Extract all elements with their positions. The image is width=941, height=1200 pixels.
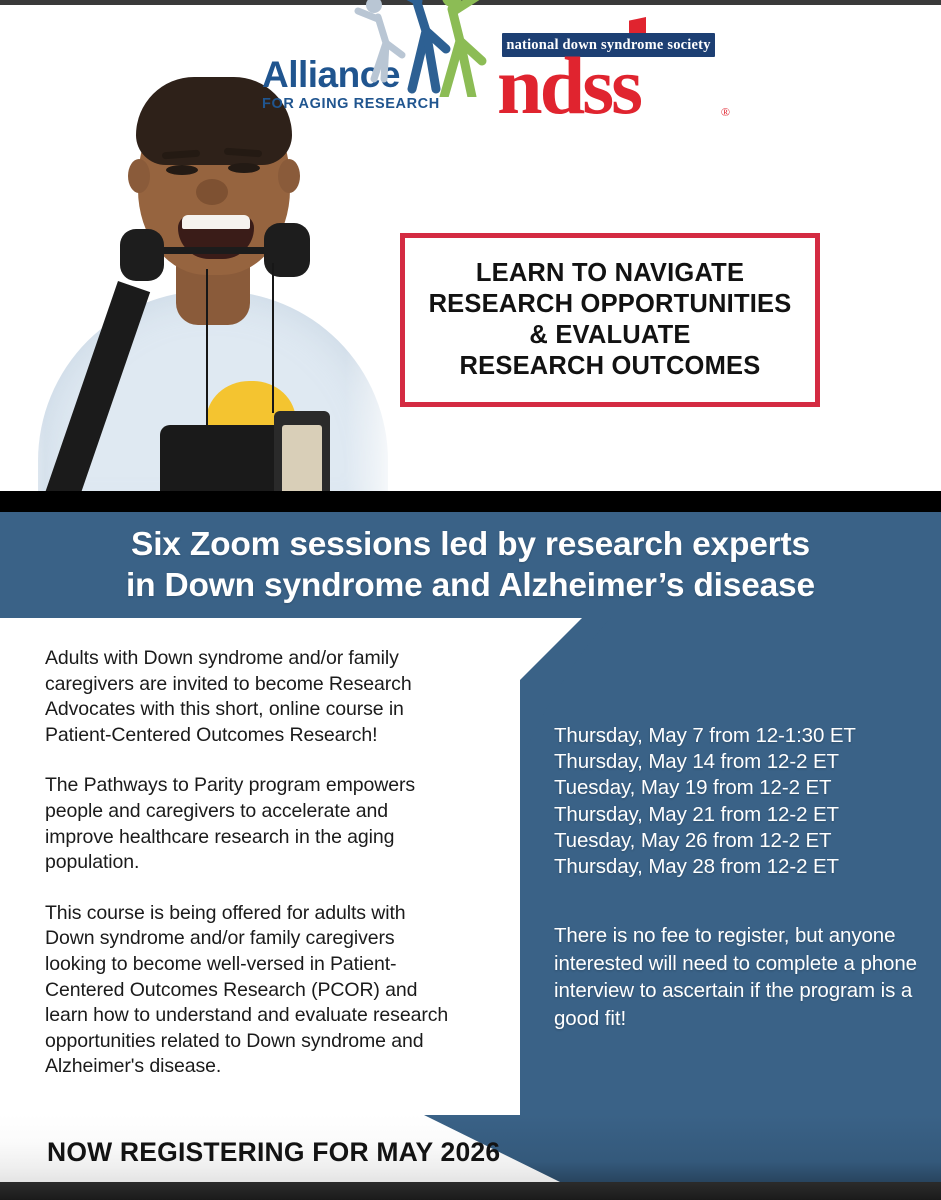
- body-section: Adults with Down syndrome and/or family …: [0, 618, 941, 1115]
- headline-callout-box: LEARN TO NAVIGATE RESEARCH OPPORTUNITIES…: [400, 233, 820, 407]
- black-divider-bar: [0, 491, 941, 512]
- hero-section: Alliance FOR AGING RESEARCH: [0, 5, 941, 491]
- ndss-logo: national down syndrome society ndss ®: [497, 23, 727, 128]
- headline-line-4: RESEARCH OUTCOMES: [429, 351, 792, 382]
- session-date-list: Thursday, May 7 from 12-1:30 ET Thursday…: [554, 723, 924, 880]
- session-banner: Six Zoom sessions led by research expert…: [0, 512, 941, 618]
- banner-line-1: Six Zoom sessions led by research expert…: [126, 524, 815, 565]
- headline-line-3: & EVALUATE: [429, 320, 792, 351]
- description-column: Adults with Down syndrome and/or family …: [45, 646, 460, 1080]
- session-date-item: Thursday, May 28 from 12-2 ET: [554, 854, 924, 880]
- headline-line-1: LEARN TO NAVIGATE: [429, 258, 792, 289]
- session-date-item: Thursday, May 7 from 12-1:30 ET: [554, 723, 924, 749]
- flyer-poster: Alliance FOR AGING RESEARCH: [0, 0, 941, 1200]
- footer-section: NOW REGISTERING FOR MAY 2026: [0, 1115, 941, 1200]
- description-paragraph-1: Adults with Down syndrome and/or family …: [45, 646, 460, 748]
- alliance-logo-subtitle: FOR AGING RESEARCH: [262, 96, 477, 112]
- session-date-item: Thursday, May 21 from 12-2 ET: [554, 802, 924, 828]
- alliance-running-figures-icon: [340, 0, 520, 97]
- schedule-column: Thursday, May 7 from 12-1:30 ET Thursday…: [554, 723, 924, 1032]
- logo-row: Alliance FOR AGING RESEARCH: [262, 5, 732, 135]
- session-date-item: Tuesday, May 26 from 12-2 ET: [554, 828, 924, 854]
- description-paragraph-3: This course is being offered for adults …: [45, 901, 460, 1080]
- description-paragraph-2: The Pathways to Parity program empowers …: [45, 773, 460, 875]
- registration-fee-note: There is no fee to register, but anyone …: [554, 922, 924, 1032]
- footer-black-bar: [0, 1182, 941, 1200]
- banner-line-2: in Down syndrome and Alzheimer’s disease: [126, 565, 815, 606]
- registration-status-text: NOW REGISTERING FOR MAY 2026: [47, 1137, 500, 1168]
- session-date-item: Tuesday, May 19 from 12-2 ET: [554, 775, 924, 801]
- headline-line-2: RESEARCH OPPORTUNITIES: [429, 289, 792, 320]
- ndss-wordmark: ndss: [497, 45, 727, 127]
- session-date-item: Thursday, May 14 from 12-2 ET: [554, 749, 924, 775]
- ndss-registered-mark: ®: [721, 105, 730, 120]
